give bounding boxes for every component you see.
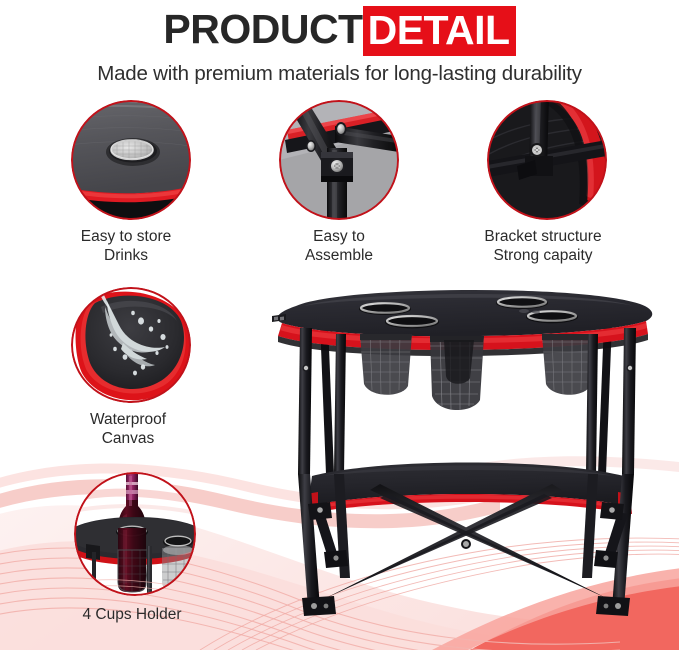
- feature-label-line1: 4 Cups Holder: [68, 605, 196, 624]
- feature-label-line1: Waterproof: [65, 410, 191, 429]
- feature-label-assemble: Easy to Assemble: [279, 227, 399, 265]
- feature-callout-bracket: Bracket structure Strong capaity: [487, 100, 607, 265]
- frame-joint-closeup-icon: [279, 100, 399, 220]
- subtitle-text: Made with premium materials for long-las…: [0, 62, 679, 86]
- feature-label-line2: Assemble: [279, 246, 399, 265]
- feature-label-waterproof: Waterproof Canvas: [65, 410, 191, 448]
- feature-callout-cups: 4 Cups Holder: [74, 472, 196, 624]
- product-detail-infographic: PRODUCT DETAIL Made with premium materia…: [0, 0, 679, 650]
- feature-label-drinks: Easy to store Drinks: [61, 227, 191, 265]
- feature-label-line1: Easy to: [279, 227, 399, 246]
- feature-callout-assemble: Easy to Assemble: [279, 100, 399, 265]
- feature-label-line1: Easy to store: [61, 227, 191, 246]
- header: PRODUCT DETAIL Made with premium materia…: [0, 0, 679, 86]
- feature-label-line2: Canvas: [65, 429, 191, 448]
- title-main-text: PRODUCT: [163, 6, 362, 52]
- feature-callout-drinks: Easy to store Drinks: [71, 100, 191, 265]
- feature-callout-waterproof: Waterproof Canvas: [71, 287, 191, 448]
- feature-label-cups: 4 Cups Holder: [68, 605, 196, 624]
- wine-bottle-holder-closeup-icon: [74, 472, 196, 596]
- feature-label-bracket: Bracket structure Strong capaity: [479, 227, 607, 265]
- feature-label-line2: Drinks: [61, 246, 191, 265]
- water-splash-closeup-icon: [71, 287, 191, 403]
- feature-label-line2: Strong capaity: [479, 246, 607, 265]
- cup-hole-closeup-icon: [71, 100, 191, 220]
- bracket-closeup-icon: [487, 100, 607, 220]
- title-accent-badge: DETAIL: [363, 6, 516, 56]
- product-image: [252, 278, 679, 650]
- feature-label-line1: Bracket structure: [479, 227, 607, 246]
- page-title: PRODUCT DETAIL: [0, 0, 679, 56]
